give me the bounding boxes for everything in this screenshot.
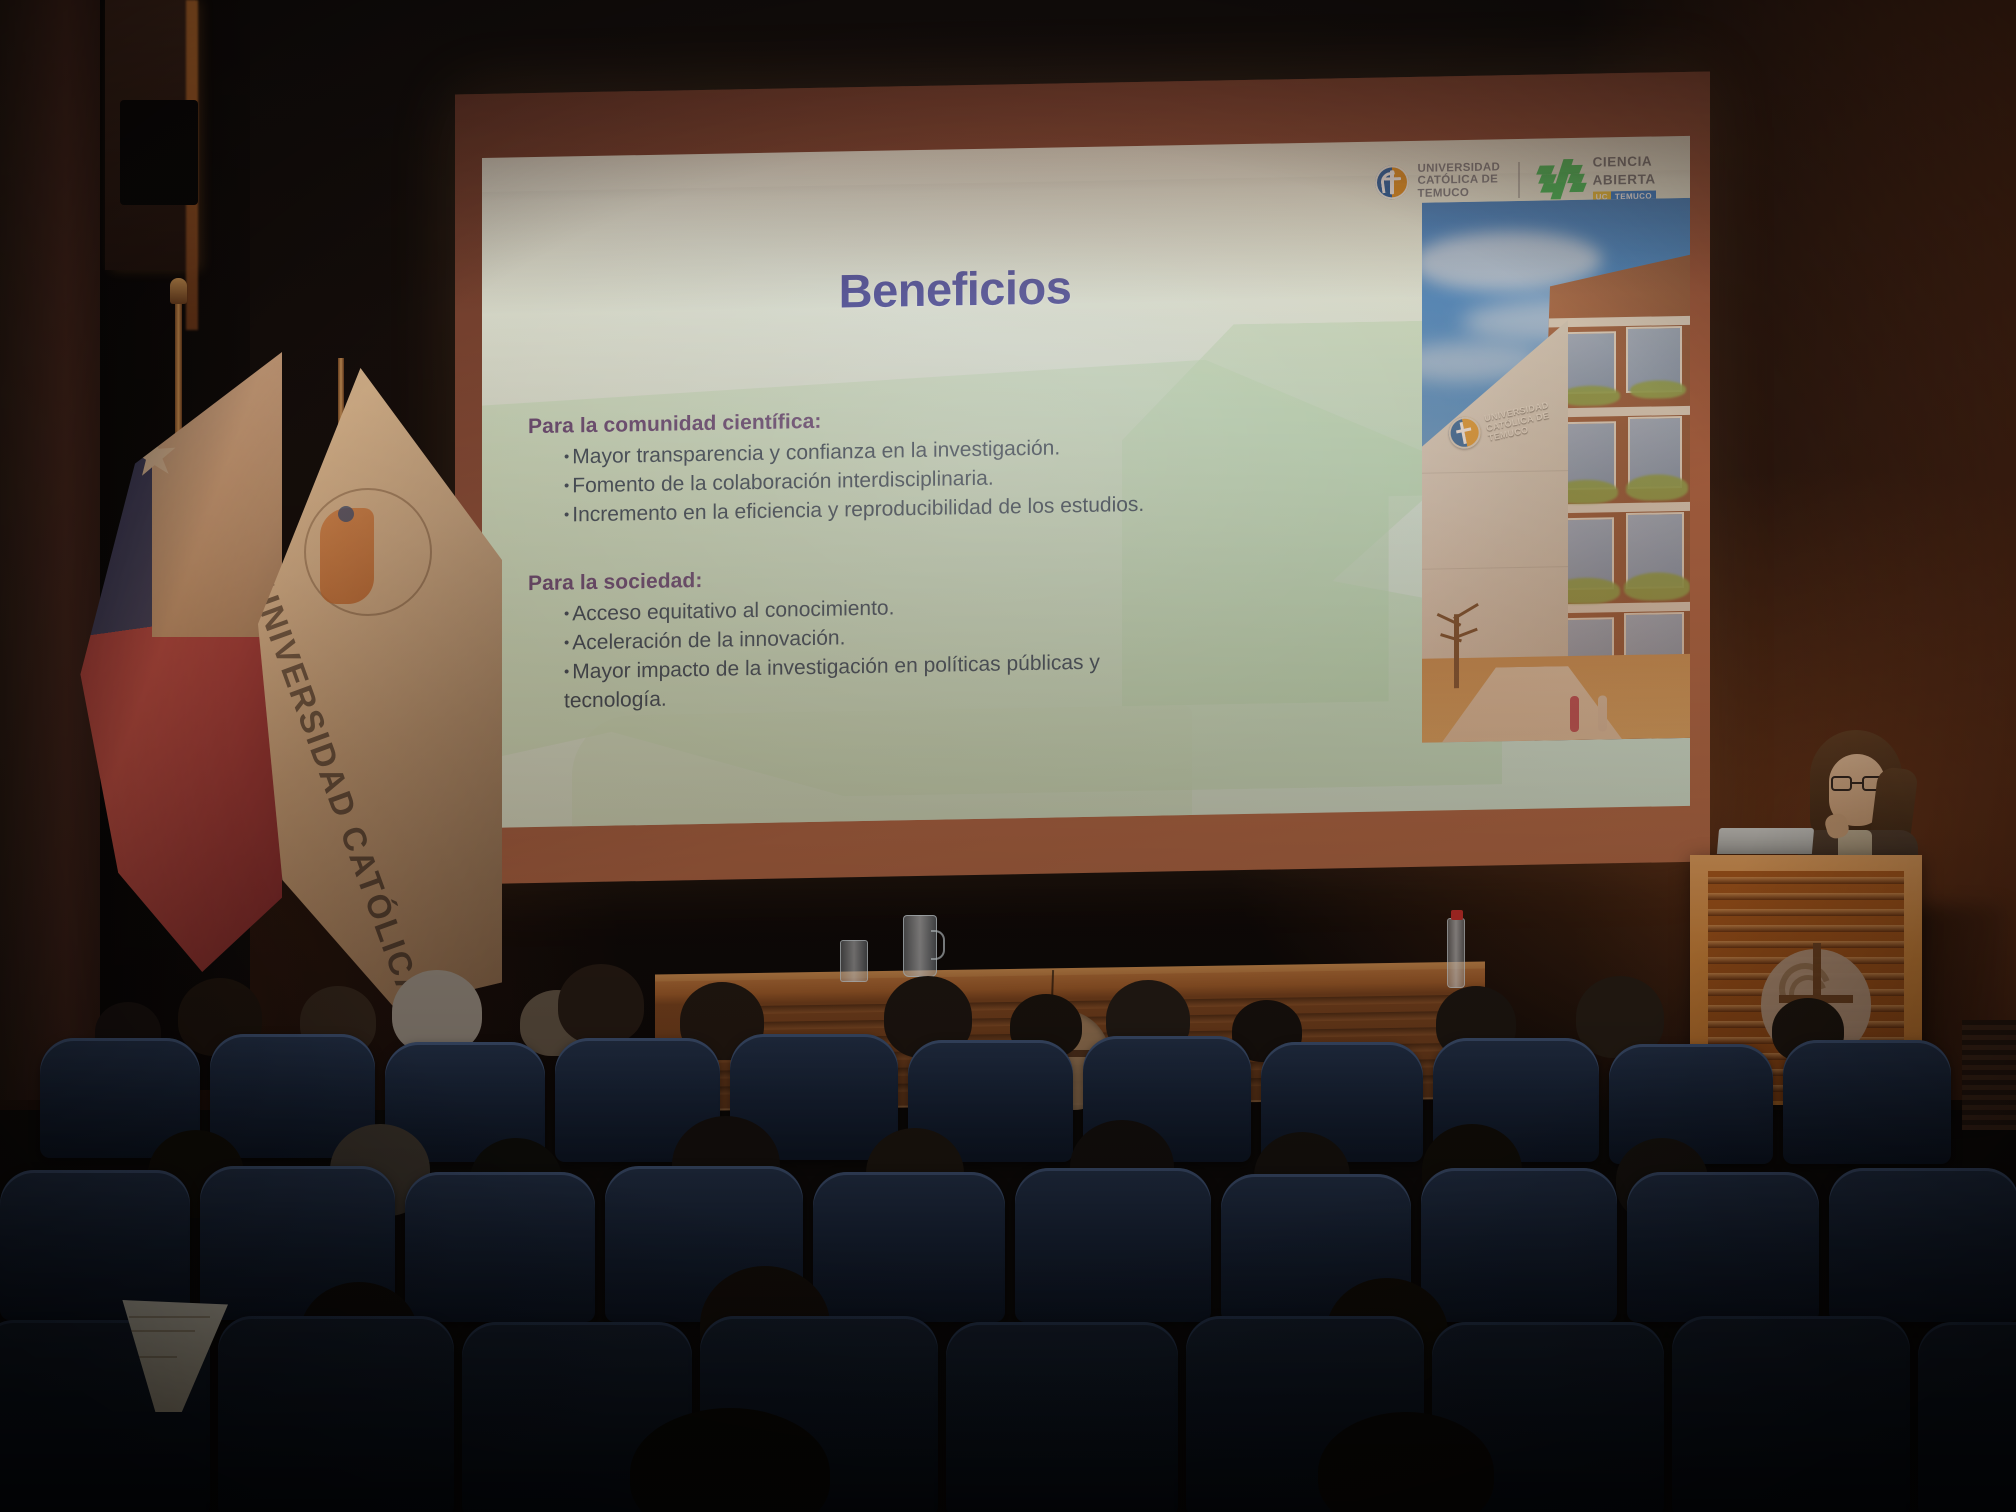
photo-tree — [1426, 592, 1490, 689]
bullet-list-scientific: Mayor transparencia y confianza en la in… — [564, 431, 1218, 530]
water-pitcher — [903, 915, 937, 977]
uc-temuco-badge: UC TEMUCO — [1593, 190, 1656, 202]
uc-temuco-logo-text: UNIVERSIDAD CATÓLICA DE TEMUCO — [1418, 161, 1501, 200]
uc-logo-line-2: CATÓLICA DE — [1418, 174, 1499, 187]
audience-seat — [1672, 1316, 1910, 1512]
projection-screen: UNIVERSIDAD CATÓLICA DE TEMUCO — [455, 71, 1710, 884]
ciencia-abierta-mark-icon — [1538, 158, 1584, 199]
uc-temuco-building-photo: UNIVERSIDAD CATÓLICA DE TEMUCO — [1422, 198, 1690, 743]
bullet-item: Incremento en la eficiencia y reproducib… — [564, 489, 1218, 530]
photo-building-facade: UNIVERSIDAD CATÓLICA DE TEMUCO — [1422, 320, 1568, 743]
ceiling-speaker — [120, 100, 198, 205]
photo-sky — [1422, 198, 1690, 743]
facade-sign-line-3: TEMUCO — [1487, 425, 1529, 443]
uc-temuco-mark-icon — [1375, 165, 1409, 200]
logo-divider — [1518, 161, 1520, 197]
slide-title: Beneficios — [482, 253, 1428, 325]
audience-seating — [0, 1020, 2016, 1512]
photo-person — [1570, 696, 1579, 732]
bullet-item: Acceso equitativo al conocimiento. — [564, 588, 1218, 629]
auditorium-scene: UNIVERSIDAD CATÓLICA DE TEMUCO — [0, 0, 2016, 1512]
bullet-item: Fomento de la colaboración interdiscipli… — [564, 460, 1218, 501]
audience-head — [558, 964, 644, 1044]
presentation-slide: UNIVERSIDAD CATÓLICA DE TEMUCO — [482, 136, 1690, 828]
slide-logo-bar: UNIVERSIDAD CATÓLICA DE TEMUCO — [1375, 152, 1656, 206]
uc-logo-line-1: UNIVERSIDAD — [1418, 161, 1501, 175]
drinking-glass — [840, 940, 868, 982]
audience-seat — [405, 1172, 595, 1322]
photo-facade-sign: UNIVERSIDAD CATÓLICA DE TEMUCO — [1446, 399, 1554, 452]
audience-seat — [813, 1172, 1005, 1322]
facade-sign-line-1: UNIVERSIDAD — [1483, 400, 1549, 423]
audience-seat — [946, 1322, 1178, 1512]
bullet-item-continuation: tecnología. — [564, 675, 1218, 716]
presenter-laptop — [1717, 828, 1814, 854]
facade-logo-icon — [1446, 414, 1484, 452]
photo-person — [1598, 695, 1607, 731]
photo-cloud — [1422, 341, 1542, 384]
decorative-shape-c — [572, 705, 1192, 828]
bullet-item: Mayor impacto de la investigación en pol… — [564, 646, 1218, 687]
facade-sign-line-2: CATÓLICA DE — [1485, 410, 1550, 433]
bottle-cap-icon — [1451, 910, 1463, 920]
ciencia-abierta-line-1: CIENCIA — [1593, 154, 1653, 170]
ciencia-abierta-logo: CIENCIA ABIERTA UC TEMUCO — [1538, 152, 1656, 203]
photo-warm-overlay — [1422, 198, 1690, 743]
audience-seat — [218, 1316, 454, 1512]
projector-hotspot — [482, 136, 1690, 828]
audience-seat — [1627, 1172, 1819, 1322]
screen-cloth-ripple — [482, 170, 1690, 202]
photo-walkway — [1442, 665, 1622, 742]
audience-seat — [1015, 1168, 1211, 1322]
flagpole-finial-icon — [170, 278, 187, 304]
ciencia-abierta-text-block: CIENCIA ABIERTA UC TEMUCO — [1593, 152, 1656, 202]
facade-sign-text: UNIVERSIDAD CATÓLICA DE TEMUCO — [1483, 400, 1553, 443]
badge-temuco-label: TEMUCO — [1611, 190, 1656, 202]
audience-seat — [0, 1170, 190, 1320]
water-bottle — [1447, 918, 1465, 988]
audience-seat — [1829, 1168, 2016, 1322]
section-spacer — [528, 518, 1218, 573]
photo-cloud — [1462, 294, 1690, 346]
section-heading-society: Para la sociedad: — [528, 560, 1218, 597]
bullet-list-society: Acceso equitativo al conocimiento. Acele… — [564, 588, 1218, 716]
decorative-shape-a — [482, 354, 1502, 803]
section-heading-scientific: Para la comunidad científica: — [528, 403, 1218, 440]
decorative-shape-b — [1122, 318, 1552, 706]
photo-cloud — [1422, 229, 1602, 292]
audience-seat — [1918, 1322, 2016, 1512]
photo-ground — [1422, 654, 1690, 743]
uc-temuco-logo: UNIVERSIDAD CATÓLICA DE TEMUCO — [1375, 161, 1501, 201]
badge-uc-label: UC — [1593, 191, 1611, 202]
photo-building-tower — [1534, 254, 1690, 743]
projector-warm-wash — [482, 136, 1690, 828]
audience-seat — [1421, 1168, 1617, 1322]
audience-seat — [1783, 1040, 1951, 1164]
ciencia-abierta-line-2: ABIERTA — [1593, 171, 1656, 187]
slide-body: Para la comunidad científica: Mayor tran… — [528, 403, 1218, 717]
bullet-item: Aceleración de la innovación. — [564, 617, 1218, 658]
uc-logo-line-3: TEMUCO — [1418, 187, 1470, 200]
bullet-item: Mayor transparencia y confianza en la in… — [564, 431, 1218, 472]
